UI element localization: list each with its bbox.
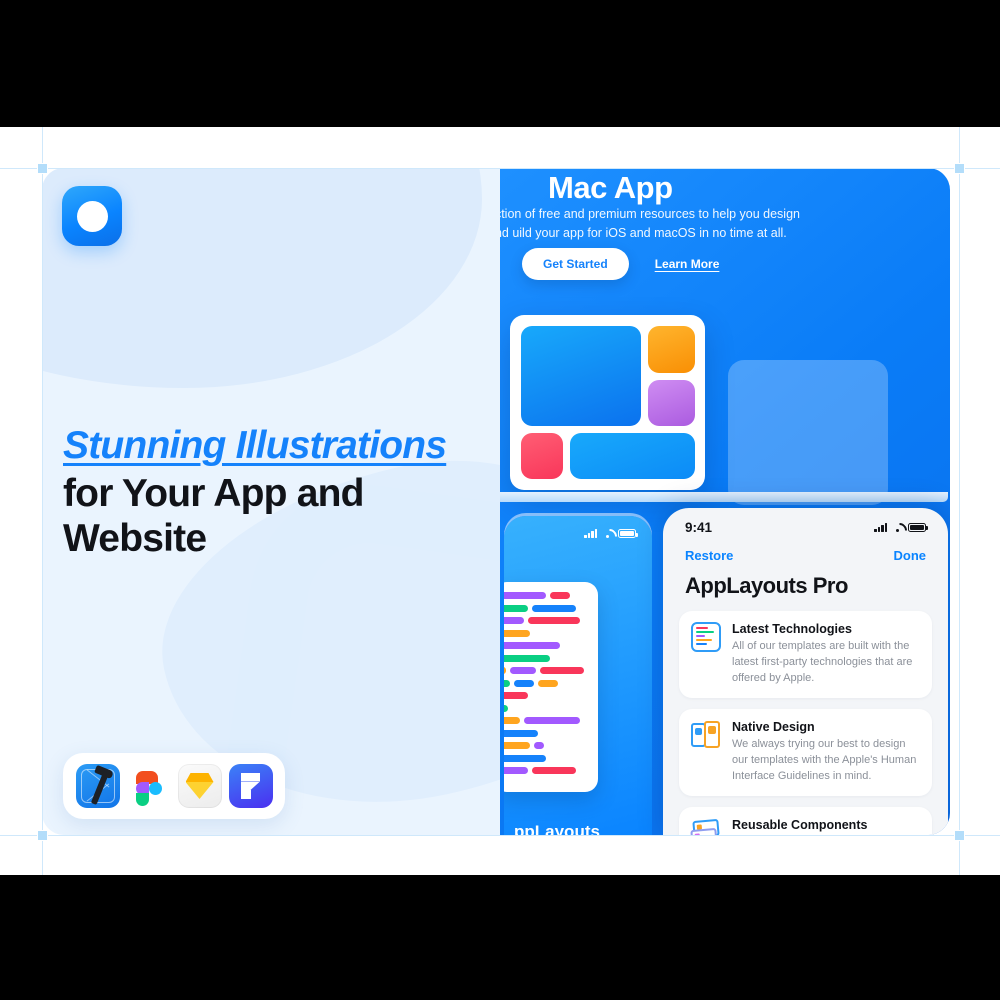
- code-line-segment: [504, 680, 510, 687]
- feature-title: Latest Technologies: [732, 622, 920, 636]
- code-phone-mockup[interactable]: ppLayouts: [504, 516, 652, 835]
- code-sheet: [504, 582, 598, 792]
- code-line-segment: [504, 692, 528, 699]
- mac-hero-section: Mac App ection of free and premium resou…: [500, 168, 950, 508]
- code-line-row: [504, 692, 592, 699]
- logo-inner-dot: [77, 201, 108, 232]
- done-button[interactable]: Done: [894, 548, 927, 563]
- feature-title: Reusable Components: [732, 818, 920, 832]
- code-line-row: [504, 592, 592, 599]
- code-line-segment: [540, 667, 584, 674]
- layered-window-front: [704, 721, 720, 748]
- code-line-segment: [504, 592, 546, 599]
- mac-window-card[interactable]: [510, 315, 705, 490]
- code-line-segment: [504, 767, 528, 774]
- selection-handle-top-right[interactable]: [954, 163, 965, 174]
- feature-desc: We always trying our best to design our …: [732, 737, 920, 785]
- status-time: 9:41: [685, 520, 712, 535]
- code-line-row: [504, 755, 592, 762]
- feature-text: Reusable Components Take advantage of co…: [732, 818, 920, 835]
- code-line-segment: [504, 742, 530, 749]
- screenshot-root: Stunning Illustrations for Your App and …: [0, 0, 1000, 1000]
- code-line-segment: [504, 642, 560, 649]
- code-line-row: [504, 730, 592, 737]
- code-line-row: [504, 717, 592, 724]
- code-line-row: [504, 617, 592, 624]
- hero-actions: Get Started Learn More: [522, 248, 719, 280]
- code-line-segment: [514, 680, 534, 687]
- hero-title: Mac App: [548, 170, 673, 206]
- framer-icon[interactable]: [229, 764, 273, 808]
- list-item[interactable]: Latest Technologies All of our templates…: [679, 611, 932, 698]
- xcode-icon[interactable]: [76, 764, 120, 808]
- code-line-segment: [504, 705, 508, 712]
- code-phone-status-icons: [584, 529, 636, 538]
- code-line-row: [504, 630, 592, 637]
- code-line-row: [504, 705, 592, 712]
- letterbox-bottom: [0, 875, 1000, 1000]
- list-item[interactable]: Native Design We always trying our best …: [679, 709, 932, 796]
- code-line-row: [504, 742, 592, 749]
- code-line-segment: [504, 655, 550, 662]
- ios-nav-bar: Restore Done: [679, 546, 932, 569]
- code-line-segment: [504, 755, 546, 762]
- learn-more-link[interactable]: Learn More: [655, 257, 720, 271]
- ios-status-icons: [874, 523, 926, 532]
- list-item[interactable]: Reusable Components Take advantage of co…: [679, 807, 932, 835]
- code-line-segment: [504, 667, 506, 674]
- tile-red[interactable]: [521, 433, 563, 479]
- guide-vertical-left: [42, 127, 43, 875]
- selection-handle-bottom-right[interactable]: [954, 830, 965, 841]
- code-document-body: [691, 622, 721, 652]
- page-title: Stunning Illustrations for Your App and …: [63, 423, 483, 562]
- tile-grid: [521, 326, 694, 479]
- stacked-cards-icon: [691, 818, 721, 835]
- code-line-row: [504, 680, 592, 687]
- layered-windows-icon: [691, 720, 721, 750]
- ios-phone-mockup[interactable]: 9:41 Restore Done AppLayouts Pro: [663, 508, 948, 835]
- hero-subtitle: ection of free and premium resources to …: [500, 205, 818, 244]
- code-line-segment: [534, 742, 544, 749]
- wifi-icon: [892, 523, 903, 532]
- figma-icon[interactable]: [127, 764, 171, 808]
- feature-text: Native Design We always trying our best …: [732, 720, 920, 785]
- battery-icon: [618, 529, 636, 538]
- code-line-row: [504, 605, 592, 612]
- code-line-segment: [504, 617, 524, 624]
- sketch-gem: [186, 773, 214, 799]
- restore-button[interactable]: Restore: [685, 548, 733, 563]
- figma-shape-blue: [149, 782, 162, 795]
- battery-icon: [908, 523, 926, 532]
- headline-rest: for Your App and Website: [63, 471, 483, 562]
- code-line-segment: [504, 717, 520, 724]
- ios-page-title: AppLayouts Pro: [679, 569, 932, 611]
- code-line-row: [504, 667, 592, 674]
- tile-orange[interactable]: [648, 326, 695, 373]
- feature-desc: All of our templates are built with the …: [732, 639, 920, 687]
- ios-status-bar: 9:41: [679, 508, 932, 546]
- code-line-segment: [504, 605, 528, 612]
- tile-main[interactable]: [521, 326, 641, 426]
- signal-icon: [874, 523, 887, 532]
- letterbox-top: [0, 0, 1000, 127]
- framer-glyph-bottom: [241, 790, 251, 799]
- tile-purple[interactable]: [648, 380, 695, 426]
- sketch-icon[interactable]: [178, 764, 222, 808]
- code-phone-caption: ppLayouts: [514, 822, 600, 835]
- code-line-segment: [538, 680, 558, 687]
- app-logo-circle-icon[interactable]: [62, 186, 122, 246]
- code-line-segment: [510, 667, 536, 674]
- code-line-segment: [532, 605, 576, 612]
- code-line-row: [504, 655, 592, 662]
- get-started-button[interactable]: Get Started: [522, 248, 629, 280]
- wifi-icon: [602, 529, 613, 538]
- right-panel: Mac App ection of free and premium resou…: [500, 168, 950, 835]
- framer-glyph: [241, 773, 260, 799]
- code-line-segment: [524, 717, 580, 724]
- selection-handle-top-left[interactable]: [37, 163, 48, 174]
- code-line-row: [504, 767, 592, 774]
- artboard[interactable]: Stunning Illustrations for Your App and …: [42, 168, 950, 835]
- ghost-card: [728, 360, 888, 505]
- signal-icon: [584, 529, 597, 538]
- sketch-gem-bottom: [186, 782, 214, 799]
- code-document-icon: [691, 622, 721, 652]
- code-line-row: [504, 642, 592, 649]
- code-line-segment: [550, 592, 570, 599]
- code-line-segment: [528, 617, 580, 624]
- guide-horizontal-top: [0, 168, 1000, 169]
- code-line-segment: [504, 630, 530, 637]
- sketch-gem-top: [186, 773, 214, 782]
- feature-text: Latest Technologies All of our templates…: [732, 622, 920, 687]
- tile-blue-wide[interactable]: [570, 433, 695, 479]
- feature-title: Native Design: [732, 720, 920, 734]
- guide-vertical-right: [959, 127, 960, 875]
- code-line-segment: [504, 730, 538, 737]
- framer-glyph-top: [241, 773, 260, 782]
- left-panel: Stunning Illustrations for Your App and …: [42, 168, 500, 835]
- guide-horizontal-bottom: [0, 835, 1000, 836]
- mac-window-base: [500, 492, 948, 502]
- framer-glyph-mid: [241, 782, 260, 791]
- tool-dock: [63, 753, 285, 819]
- selection-handle-bottom-left[interactable]: [37, 830, 48, 841]
- headline-accent: Stunning Illustrations: [63, 424, 446, 467]
- code-line-segment: [532, 767, 576, 774]
- figma-shape-green: [136, 793, 149, 806]
